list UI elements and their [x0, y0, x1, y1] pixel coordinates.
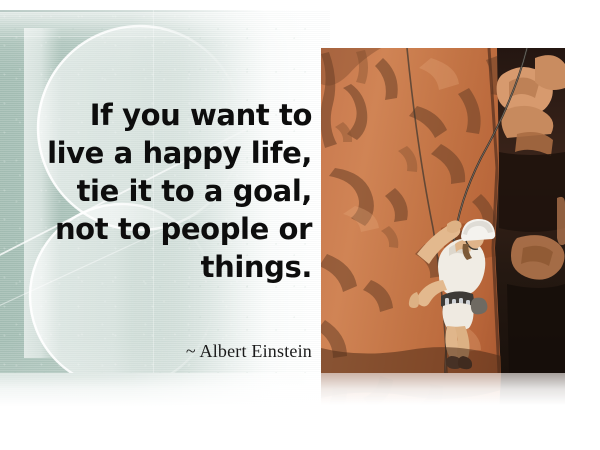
quote-text: If you want to live a happy life, tie it…	[20, 96, 312, 286]
climber-photo	[321, 48, 565, 373]
quote-line-5: things.	[20, 248, 312, 286]
quote-attribution: ~ Albert Einstein	[20, 341, 312, 362]
quote-line-2: live a happy life,	[20, 134, 312, 172]
quote-line-3: tie it to a goal,	[20, 172, 312, 210]
quote-line-1: If you want to	[20, 96, 312, 134]
climber-photo-image	[321, 48, 565, 373]
quote-line-4: not to people or	[20, 210, 312, 248]
grid-line-horizontal	[0, 36, 330, 37]
panel-reflection-fade	[0, 373, 330, 407]
photo-reflection-fade	[321, 373, 565, 405]
slide-canvas: If you want to live a happy life, tie it…	[0, 0, 600, 450]
